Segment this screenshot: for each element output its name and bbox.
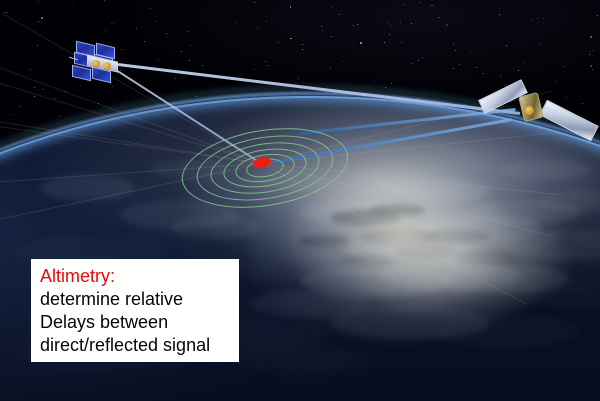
star [321,33,322,34]
glistening-zone-rings [180,128,350,208]
antenna-dish [103,62,111,70]
star [330,67,331,68]
star [373,80,374,81]
star [254,69,255,70]
star [41,17,43,19]
star [181,51,182,52]
star [342,2,343,3]
star [189,60,190,61]
star [459,64,460,65]
star [353,42,354,43]
star [4,12,6,14]
star [390,25,391,26]
star [34,87,35,88]
star [590,36,592,38]
star [322,30,323,31]
star [506,45,507,46]
star [540,44,541,45]
star [13,114,14,115]
antenna-dish [525,106,534,115]
star [537,23,538,24]
star [236,22,237,23]
star [187,31,188,32]
star [453,68,454,69]
illustration-canvas: Altimetry: determine relative Delays bet… [0,0,600,401]
star [518,70,519,71]
star [266,21,267,22]
star [483,73,484,74]
star [38,1,39,2]
star [555,81,556,82]
gnss-satellite [474,84,600,154]
caption-title: Altimetry: [40,265,239,288]
star [597,15,598,16]
caption-line-1: determine relative [40,288,239,311]
star [592,50,593,51]
star [150,8,151,9]
star [158,60,159,61]
star [265,61,266,62]
star [267,65,268,66]
star [298,78,299,79]
antenna-dish [92,60,100,68]
caption-line-2: Delays between [40,311,239,334]
caption-box: Altimetry: determine relative Delays bet… [31,259,239,362]
star [563,66,564,67]
star [166,33,167,34]
solar-panel [539,100,598,141]
caption-line-3: direct/reflected signal [40,334,239,357]
star [339,14,340,15]
star [470,51,471,52]
star [360,42,362,44]
star [400,22,401,23]
star [190,45,191,46]
star [111,23,113,25]
receiver-satellite [72,41,130,85]
star [331,36,332,37]
star [446,24,448,26]
star [384,42,385,43]
star [590,65,592,67]
star [30,69,31,70]
star [322,70,323,71]
star [38,21,39,22]
star [19,106,20,107]
